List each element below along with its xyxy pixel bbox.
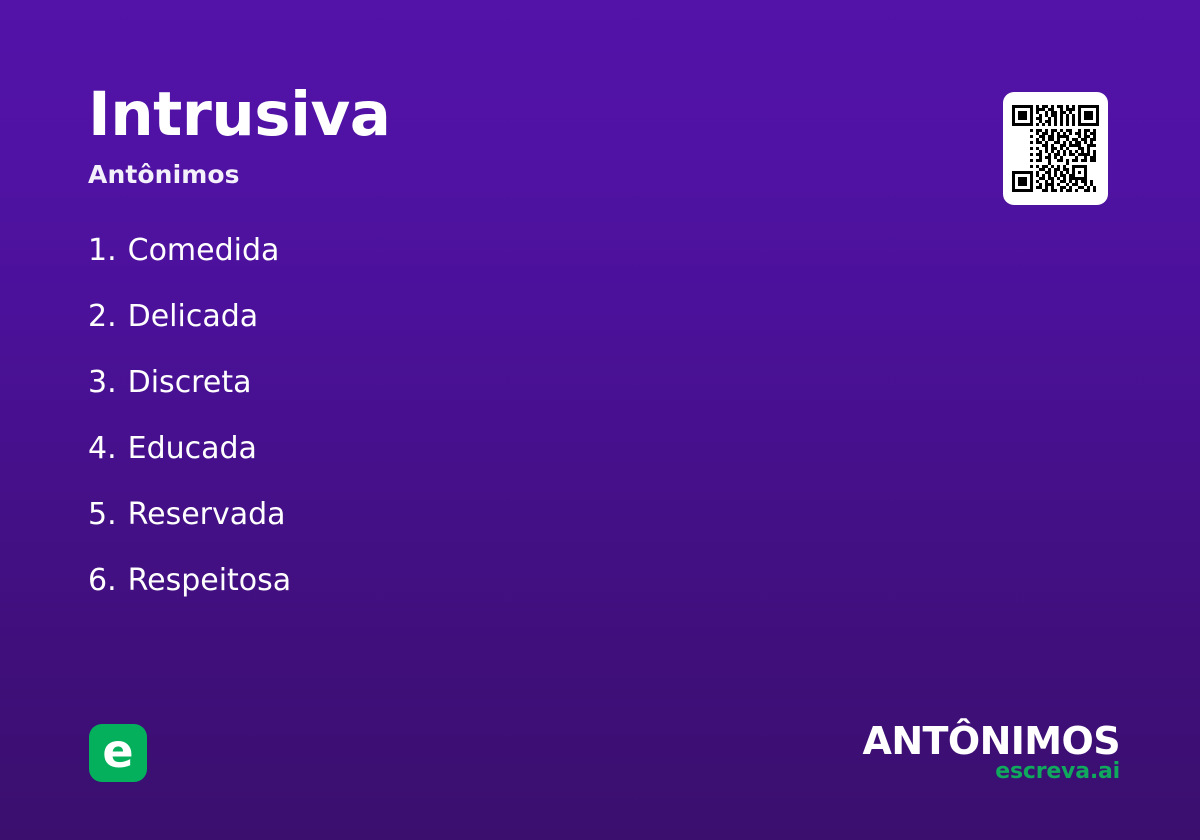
list-item-index: 6. [88,566,117,596]
list-item-word: Respeitosa [128,566,292,596]
page-title: Intrusiva [88,84,908,145]
list-item-word: Delicada [128,302,259,332]
antonyms-card: Intrusiva Antônimos [0,0,1200,840]
escreva-logo-icon: e [89,724,147,782]
list-item-index: 4. [88,434,117,464]
qr-code-icon [1012,105,1099,192]
list-item: 5. Reservada [88,500,788,566]
list-item-index: 5. [88,500,117,530]
list-item-word: Educada [128,434,257,464]
list-item-word: Discreta [128,368,252,398]
list-item: 6. Respeitosa [88,566,788,632]
list-item-index: 3. [88,368,117,398]
list-item: 2. Delicada [88,302,788,368]
brand-wordmark: ANTÔNIMOS escreva.ai [863,722,1120,783]
list-item: 1. Comedida [88,236,788,302]
list-item-index: 2. [88,302,117,332]
list-item: 4. Educada [88,434,788,500]
list-item-index: 1. [88,236,117,266]
headline-block: Intrusiva Antônimos [88,84,908,187]
brand-badge-letter: e [102,728,133,774]
wordmark-domain: escreva.ai [863,761,1120,783]
antonyms-list: 1. Comedida 2. Delicada 3. Discreta 4. E… [88,236,788,632]
list-item: 3. Discreta [88,368,788,434]
list-item-word: Comedida [128,236,280,266]
qr-code-card[interactable] [1003,92,1108,205]
wordmark-title: ANTÔNIMOS [863,722,1120,760]
page-subtitle: Antônimos [88,162,908,187]
list-item-word: Reservada [128,500,286,530]
